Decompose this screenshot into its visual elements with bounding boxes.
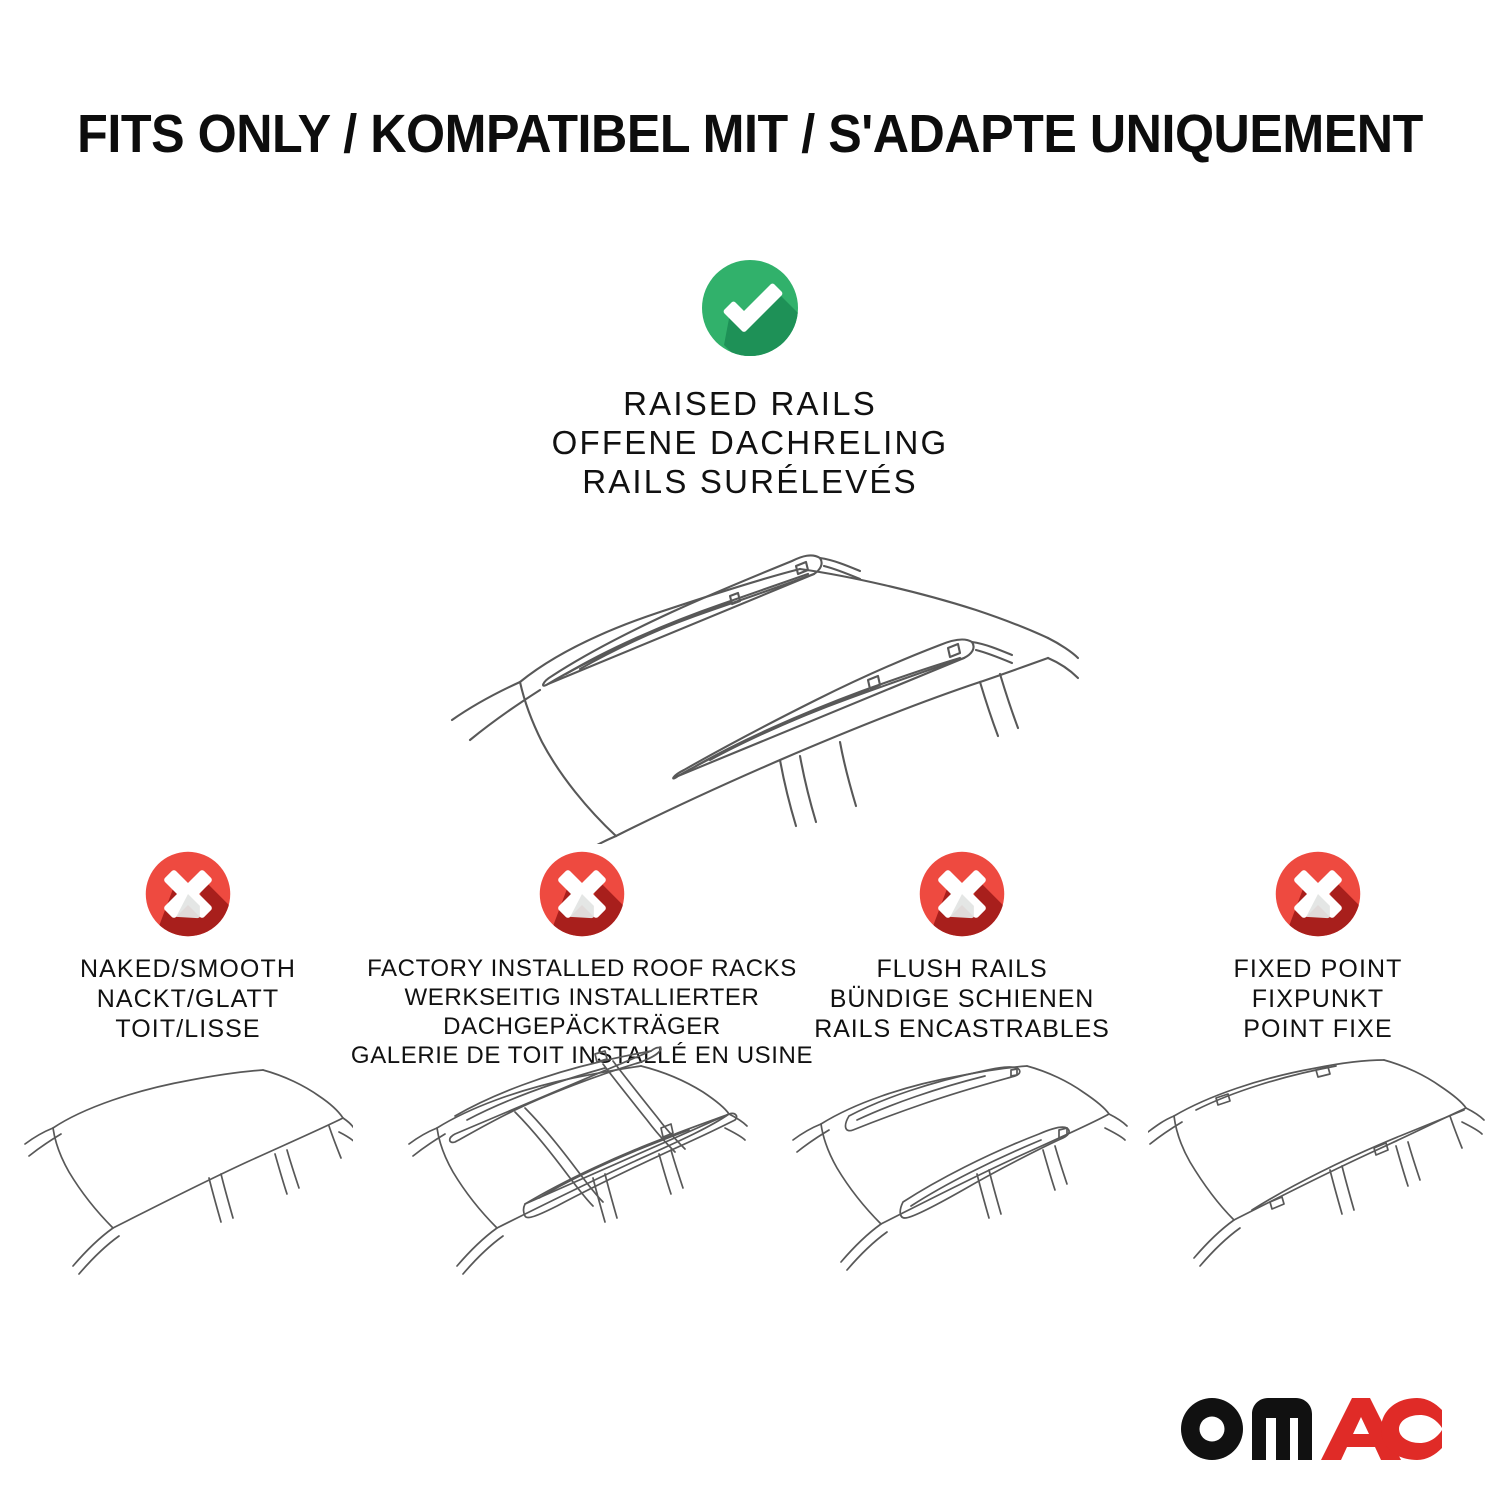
rejected-caption: NAKED/SMOOTH NACKT/GLATT TOIT/LISSE	[80, 954, 296, 1044]
approved-caption: RAISED RAILS OFFENE DACHRELING RAILS SUR…	[0, 384, 1500, 501]
x-circle-icon	[144, 850, 232, 938]
approved-caption-line: RAISED RAILS	[0, 384, 1500, 423]
approved-badge-wrap	[0, 258, 1500, 358]
rejected-caption-line: NAKED/SMOOTH	[80, 954, 296, 984]
rejected-column-factory-roof-racks: FACTORY INSTALLED ROOF RACKS WERKSEITIG …	[376, 850, 788, 1070]
rejected-caption-line: FIXED POINT	[1233, 954, 1402, 984]
rejected-caption-line: DACHGEPÄCKTRÄGER	[351, 1012, 813, 1041]
car-roof-fixed-point-illustration	[1148, 1054, 1488, 1284]
page-title: FITS ONLY / KOMPATIBEL MIT / S'ADAPTE UN…	[53, 104, 1448, 164]
rejected-column-fixed-point: FIXED POINT FIXPUNKT POINT FIXE	[1136, 850, 1500, 1070]
approved-caption-line: OFFENE DACHRELING	[0, 423, 1500, 462]
omac-logo	[1180, 1398, 1442, 1460]
car-roof-raised-rails-illustration	[0, 514, 1500, 844]
approved-section: RAISED RAILS OFFENE DACHRELING RAILS SUR…	[0, 258, 1500, 501]
rejected-caption-line: RAILS ENCASTRABLES	[814, 1014, 1109, 1044]
rejected-section: NAKED/SMOOTH NACKT/GLATT TOIT/LISSE	[0, 850, 1500, 1070]
car-roof-flush-rails-illustration	[787, 1054, 1137, 1284]
rejected-caption: FIXED POINT FIXPUNKT POINT FIXE	[1233, 954, 1402, 1044]
rejected-column-flush-rails: FLUSH RAILS BÜNDIGE SCHIENEN RAILS ENCAS…	[788, 850, 1136, 1070]
rejected-caption-line: POINT FIXE	[1233, 1014, 1402, 1044]
rejected-column-naked-smooth: NAKED/SMOOTH NACKT/GLATT TOIT/LISSE	[0, 850, 376, 1070]
rejected-caption: FLUSH RAILS BÜNDIGE SCHIENEN RAILS ENCAS…	[814, 954, 1109, 1044]
rejected-caption-line: FIXPUNKT	[1233, 984, 1402, 1014]
approved-caption-line: RAILS SURÉLEVÉS	[0, 462, 1500, 501]
logo-letter-o	[1181, 1398, 1243, 1460]
rejected-caption-line: BÜNDIGE SCHIENEN	[814, 984, 1109, 1014]
rejected-caption-line: NACKT/GLATT	[80, 984, 296, 1014]
rejected-caption-line: TOIT/LISSE	[80, 1014, 296, 1044]
car-roof-naked-smooth-illustration	[23, 1060, 353, 1290]
car-roof-factory-roof-racks-illustration	[397, 1046, 767, 1296]
rejected-caption-line: FACTORY INSTALLED ROOF RACKS	[351, 954, 813, 983]
logo-letter-m	[1252, 1398, 1312, 1460]
rejected-caption-line: FLUSH RAILS	[814, 954, 1109, 984]
x-circle-icon	[918, 850, 1006, 938]
x-circle-icon	[538, 850, 626, 938]
check-circle-icon	[700, 258, 800, 358]
x-circle-icon	[1274, 850, 1362, 938]
rejected-caption-line: WERKSEITIG INSTALLIERTER	[351, 983, 813, 1012]
